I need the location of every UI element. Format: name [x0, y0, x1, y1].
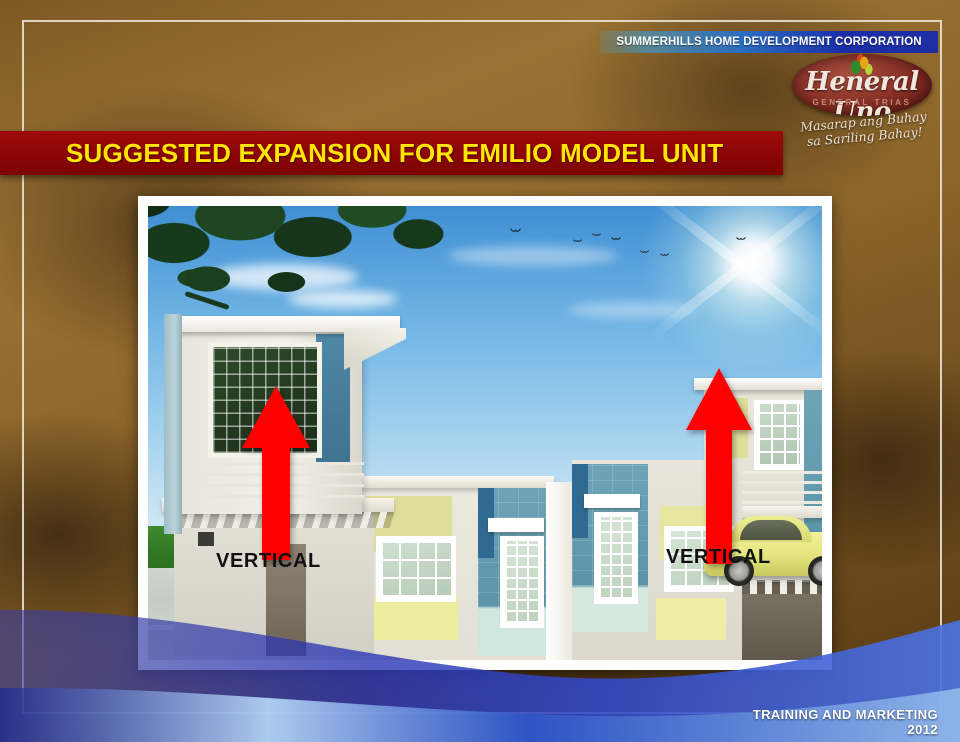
logo-brand-subtitle: GENERAL TRIAS — [792, 98, 932, 107]
bird-icon — [573, 238, 582, 244]
cloud-shape — [448, 246, 618, 266]
slide-title-banner: SUGGESTED EXPANSION FOR EMILIO MODEL UNI… — [0, 131, 783, 175]
corporation-header-bar: SUMMERHILLS HOME DEVELOPMENT CORPORATION — [600, 31, 938, 53]
page-title: SUGGESTED EXPANSION FOR EMILIO MODEL UNI… — [66, 138, 723, 169]
left-unit-roof-eave — [344, 328, 406, 370]
center-unit-roof — [348, 476, 554, 488]
leaf-icon — [848, 54, 874, 76]
vertical-expansion-arrow-right — [686, 368, 752, 564]
company-logo: Heneral Uno GENERAL TRIAS Masarap ang Bu… — [786, 52, 938, 152]
left-unit-vent — [198, 532, 214, 546]
vertical-label-right: VERTICAL — [666, 546, 771, 569]
tree-canopy — [148, 206, 458, 330]
vertical-label-left: VERTICAL — [216, 550, 321, 573]
far-unit-window — [754, 400, 804, 470]
right-unit-yellow-base — [656, 598, 726, 640]
footer-year: 2012 — [907, 722, 938, 737]
footer-department: TRAINING AND MARKETING — [753, 707, 938, 722]
left-unit-pillar — [164, 314, 182, 534]
presentation-slide: SUMMERHILLS HOME DEVELOPMENT CORPORATION… — [0, 0, 960, 742]
bird-icon — [640, 249, 649, 255]
bird-icon — [660, 252, 669, 258]
cloud-shape — [568, 302, 698, 318]
sun-glare-icon — [632, 206, 822, 366]
right-unit-window-hood — [584, 494, 640, 508]
photo-frame: VERTICAL VERTICAL — [138, 196, 832, 670]
bird-icon — [611, 236, 621, 242]
house-rendering-image: VERTICAL VERTICAL — [148, 206, 822, 660]
center-unit-window — [376, 536, 456, 602]
center-unit-yellow-base — [362, 596, 458, 640]
center-unit-window — [500, 536, 544, 628]
center-unit-column — [546, 482, 572, 660]
center-unit-window-hood — [488, 518, 544, 532]
right-unit-window — [594, 512, 638, 604]
bird-icon — [592, 232, 601, 238]
corporation-name: SUMMERHILLS HOME DEVELOPMENT CORPORATION — [616, 36, 921, 48]
bird-icon — [510, 228, 521, 234]
vertical-expansion-arrow-left — [242, 386, 310, 560]
bird-icon — [736, 236, 746, 242]
